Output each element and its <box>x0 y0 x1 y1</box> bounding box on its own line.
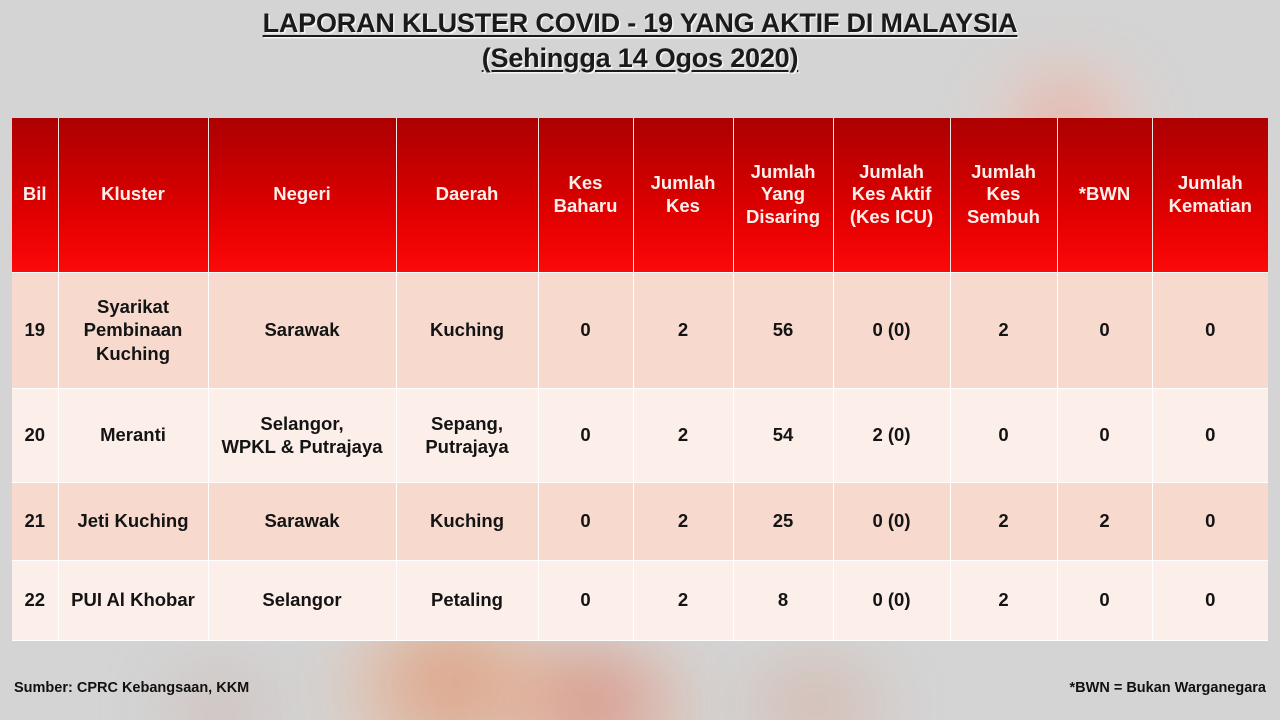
column-header-kes-baharu: KesBaharu <box>538 118 633 272</box>
cell-kes-sembuh: 2 <box>950 482 1057 560</box>
cell-kluster: Jeti Kuching <box>58 482 208 560</box>
column-header-bil: Bil <box>12 118 58 272</box>
cell-kes-baharu: 0 <box>538 560 633 640</box>
table-header-row: Bil Kluster Negeri Daerah KesBaharu Juml… <box>12 118 1268 272</box>
cell-kes-baharu: 0 <box>538 272 633 388</box>
cell-daerah: Kuching <box>396 482 538 560</box>
cell-kes-aktif-icu: 2 (0) <box>833 388 950 482</box>
footer-note: *BWN = Bukan Warganegara <box>1070 680 1266 696</box>
cell-kematian: 0 <box>1152 272 1268 388</box>
column-header-kematian: JumlahKematian <box>1152 118 1268 272</box>
footer: Sumber: CPRC Kebangsaan, KKM *BWN = Buka… <box>0 680 1280 710</box>
cell-kluster: SyarikatPembinaanKuching <box>58 272 208 388</box>
cell-daerah: Kuching <box>396 272 538 388</box>
column-header-jumlah-kes: JumlahKes <box>633 118 733 272</box>
cell-negeri: Sarawak <box>208 482 396 560</box>
page-title-line-2: (Sehingga 14 Ogos 2020) <box>482 41 799 76</box>
active-cluster-table: Bil Kluster Negeri Daerah KesBaharu Juml… <box>12 118 1268 641</box>
cell-bil: 22 <box>12 560 58 640</box>
cell-kes-baharu: 0 <box>538 482 633 560</box>
cell-bwn: 0 <box>1057 560 1152 640</box>
column-header-bwn: *BWN <box>1057 118 1152 272</box>
cell-kematian: 0 <box>1152 560 1268 640</box>
cell-kluster: Meranti <box>58 388 208 482</box>
cell-kes-sembuh: 2 <box>950 560 1057 640</box>
cell-jumlah-kes: 2 <box>633 560 733 640</box>
cell-kes-aktif-icu: 0 (0) <box>833 482 950 560</box>
page-title: LAPORAN KLUSTER COVID - 19 YANG AKTIF DI… <box>0 6 1280 75</box>
cell-kes-sembuh: 0 <box>950 388 1057 482</box>
cell-jumlah-disaring: 56 <box>733 272 833 388</box>
table-row: 20 Meranti Selangor,WPKL & Putrajaya Sep… <box>12 388 1268 482</box>
cell-bil: 21 <box>12 482 58 560</box>
cell-jumlah-kes: 2 <box>633 272 733 388</box>
cell-bwn: 0 <box>1057 272 1152 388</box>
page-title-line-1: LAPORAN KLUSTER COVID - 19 YANG AKTIF DI… <box>263 6 1018 41</box>
table-row: 21 Jeti Kuching Sarawak Kuching 0 2 25 0… <box>12 482 1268 560</box>
cell-jumlah-disaring: 25 <box>733 482 833 560</box>
cell-kematian: 0 <box>1152 388 1268 482</box>
cell-kluster: PUI Al Khobar <box>58 560 208 640</box>
column-header-daerah: Daerah <box>396 118 538 272</box>
cell-kes-aktif-icu: 0 (0) <box>833 272 950 388</box>
footer-source: Sumber: CPRC Kebangsaan, KKM <box>14 680 249 696</box>
table-row: 19 SyarikatPembinaanKuching Sarawak Kuch… <box>12 272 1268 388</box>
column-header-kes-aktif-icu: JumlahKes Aktif(Kes ICU) <box>833 118 950 272</box>
cell-bil: 20 <box>12 388 58 482</box>
cell-jumlah-kes: 2 <box>633 388 733 482</box>
cell-negeri: Sarawak <box>208 272 396 388</box>
cell-kes-aktif-icu: 0 (0) <box>833 560 950 640</box>
cell-jumlah-disaring: 54 <box>733 388 833 482</box>
cell-jumlah-disaring: 8 <box>733 560 833 640</box>
column-header-negeri: Negeri <box>208 118 396 272</box>
table-body: 19 SyarikatPembinaanKuching Sarawak Kuch… <box>12 272 1268 640</box>
cell-kematian: 0 <box>1152 482 1268 560</box>
table-row: 22 PUI Al Khobar Selangor Petaling 0 2 8… <box>12 560 1268 640</box>
cell-daerah: Petaling <box>396 560 538 640</box>
column-header-kes-sembuh: JumlahKesSembuh <box>950 118 1057 272</box>
cell-negeri: Selangor,WPKL & Putrajaya <box>208 388 396 482</box>
cell-kes-sembuh: 2 <box>950 272 1057 388</box>
cell-daerah: Sepang,Putrajaya <box>396 388 538 482</box>
cell-bwn: 0 <box>1057 388 1152 482</box>
cell-negeri: Selangor <box>208 560 396 640</box>
cluster-table-container: Bil Kluster Negeri Daerah KesBaharu Juml… <box>12 118 1268 641</box>
cell-kes-baharu: 0 <box>538 388 633 482</box>
cell-bwn: 2 <box>1057 482 1152 560</box>
cell-jumlah-kes: 2 <box>633 482 733 560</box>
cell-bil: 19 <box>12 272 58 388</box>
column-header-jumlah-disaring: JumlahYangDisaring <box>733 118 833 272</box>
column-header-kluster: Kluster <box>58 118 208 272</box>
